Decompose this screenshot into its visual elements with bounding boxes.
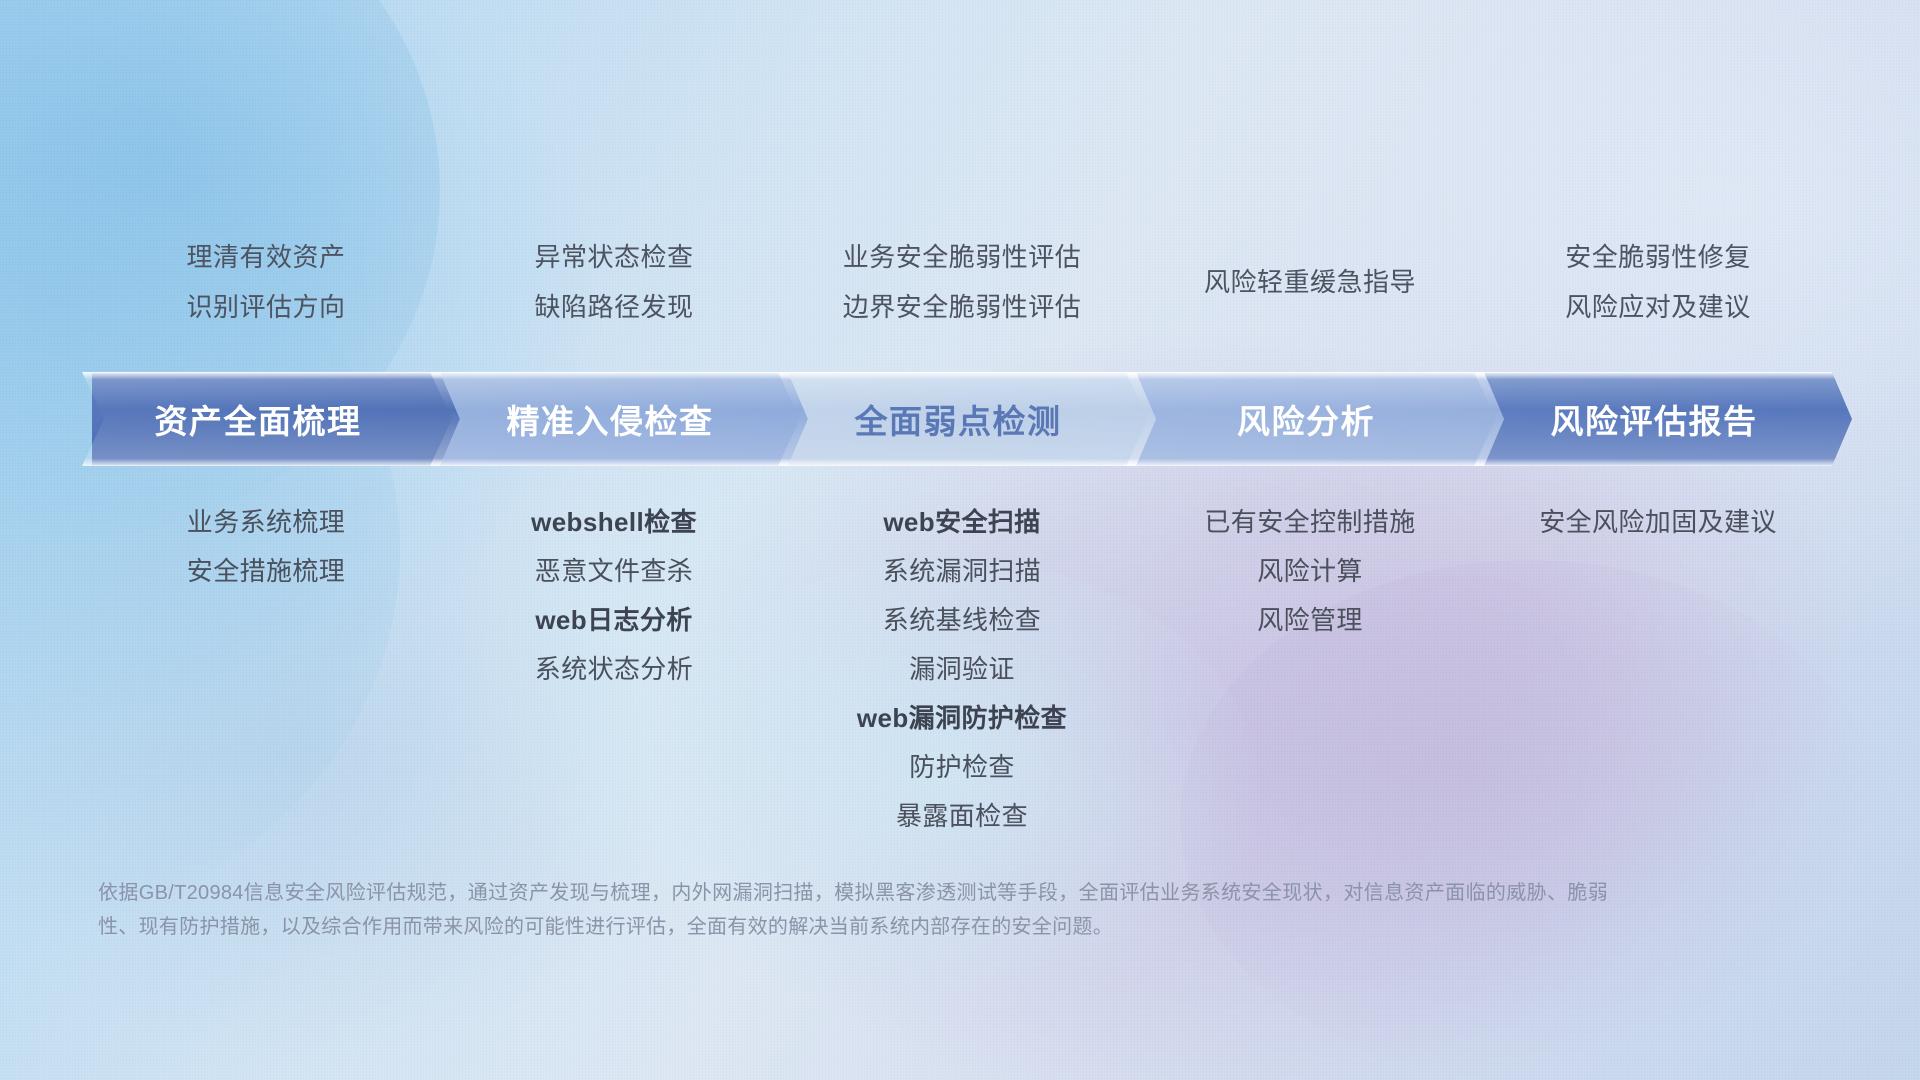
chevron-stage-1[interactable]: 资产全面梳理: [92, 372, 440, 466]
top-item: 识别评估方向: [92, 282, 440, 332]
bottom-column-3: web安全扫描 系统漏洞扫描 系统基线检查 漏洞验证 web漏洞防护检查 防护检…: [788, 498, 1136, 841]
list-item: 业务系统梳理: [92, 498, 440, 547]
top-item: 缺陷路径发现: [440, 282, 788, 332]
list-item: 系统漏洞扫描: [788, 547, 1136, 596]
bottom-column-1: 业务系统梳理 安全措施梳理: [92, 498, 440, 596]
list-item: 系统基线检查: [788, 596, 1136, 645]
list-item: webshell检查: [440, 498, 788, 547]
list-item: 防护检查: [788, 743, 1136, 792]
top-item: 风险应对及建议: [1484, 282, 1832, 332]
top-item: 异常状态检查: [440, 232, 788, 282]
bottom-column-4: 已有安全控制措施 风险计算 风险管理: [1136, 498, 1484, 645]
top-column-2: 异常状态检查 缺陷路径发现: [440, 232, 788, 352]
top-item: 业务安全脆弱性评估: [788, 232, 1136, 282]
chevron-label: 精准入侵检查: [507, 395, 714, 443]
chevron-label: 全面弱点检测: [855, 395, 1062, 443]
top-item: 边界安全脆弱性评估: [788, 282, 1136, 332]
top-item: 理清有效资产: [92, 232, 440, 282]
process-chevron-band: 资产全面梳理 精准入侵检查 全面弱点检测 风险分析 风险评估报告: [92, 372, 1832, 466]
top-annotations-row: 理清有效资产 识别评估方向 异常状态检查 缺陷路径发现 业务安全脆弱性评估 边界…: [92, 232, 1832, 352]
chevron-stage-2[interactable]: 精准入侵检查: [440, 372, 788, 466]
chevron-label: 风险评估报告: [1551, 395, 1758, 443]
list-item: 安全措施梳理: [92, 547, 440, 596]
list-item: web日志分析: [440, 596, 788, 645]
chevron-stage-4[interactable]: 风险分析: [1136, 372, 1484, 466]
list-item: 系统状态分析: [440, 645, 788, 694]
chevron-label: 风险分析: [1237, 395, 1375, 443]
list-item: 暴露面检查: [788, 792, 1136, 841]
bottom-column-5: 安全风险加固及建议: [1484, 498, 1832, 547]
top-item: 风险轻重缓急指导: [1136, 257, 1484, 307]
list-item: 风险管理: [1136, 596, 1484, 645]
chevron-label: 资产全面梳理: [155, 395, 362, 443]
list-item: 已有安全控制措施: [1136, 498, 1484, 547]
top-column-3: 业务安全脆弱性评估 边界安全脆弱性评估: [788, 232, 1136, 352]
chevron-stage-5[interactable]: 风险评估报告: [1484, 372, 1832, 466]
chevron-stage-3[interactable]: 全面弱点检测: [788, 372, 1136, 466]
list-item: web安全扫描: [788, 498, 1136, 547]
top-item: 安全脆弱性修复: [1484, 232, 1832, 282]
bottom-column-2: webshell检查 恶意文件查杀 web日志分析 系统状态分析: [440, 498, 788, 694]
top-column-4: 风险轻重缓急指导: [1136, 232, 1484, 352]
list-item: 安全风险加固及建议: [1484, 498, 1832, 547]
list-item: 风险计算: [1136, 547, 1484, 596]
bottom-detail-row: 业务系统梳理 安全措施梳理 webshell检查 恶意文件查杀 web日志分析 …: [92, 498, 1832, 841]
slide-canvas: 理清有效资产 识别评估方向 异常状态检查 缺陷路径发现 业务安全脆弱性评估 边界…: [0, 0, 1920, 1080]
list-item: 漏洞验证: [788, 645, 1136, 694]
list-item: 恶意文件查杀: [440, 547, 788, 596]
footer-description: 依据GB/T20984信息安全风险评估规范，通过资产发现与梳理，内外网漏洞扫描，…: [98, 876, 1608, 944]
list-item: web漏洞防护检查: [788, 694, 1136, 743]
top-column-5: 安全脆弱性修复 风险应对及建议: [1484, 232, 1832, 352]
top-column-1: 理清有效资产 识别评估方向: [92, 232, 440, 352]
